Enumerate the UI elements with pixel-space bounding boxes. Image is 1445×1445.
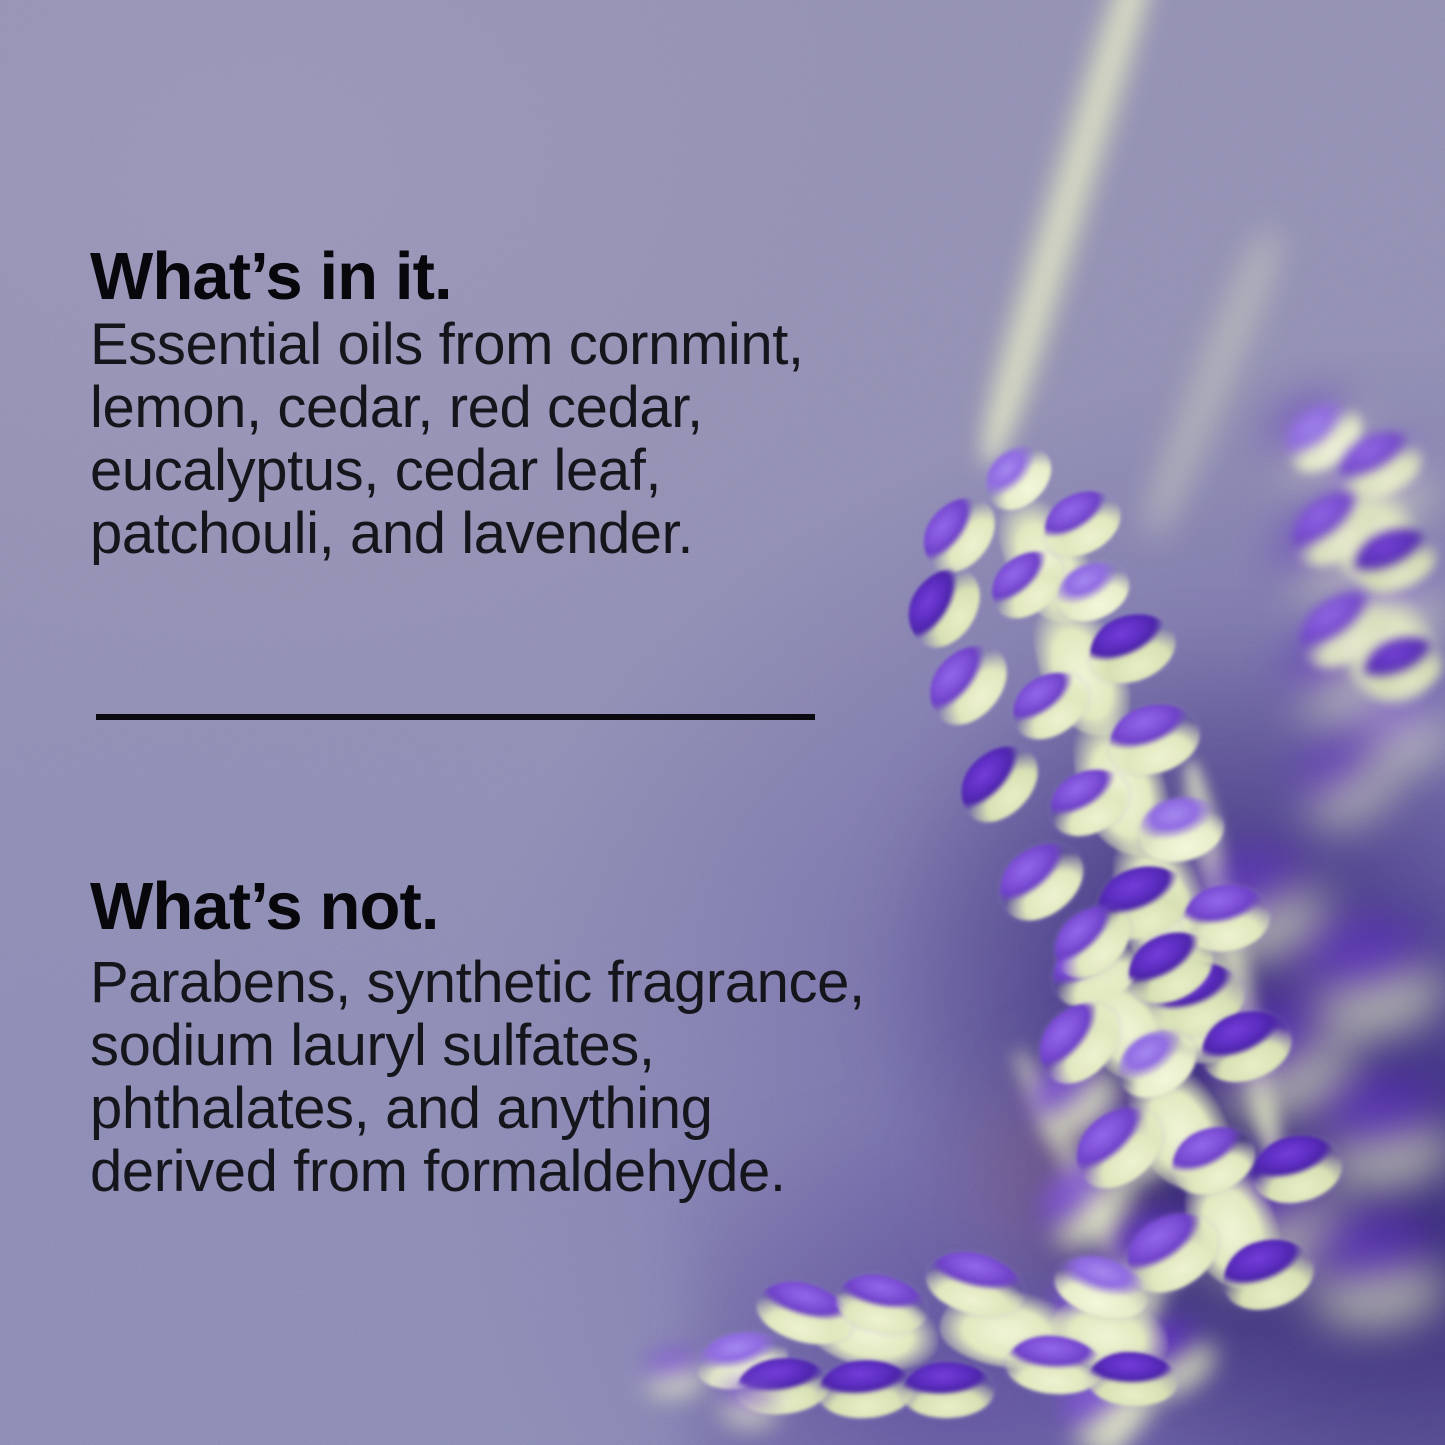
ingredients-excluded-text: Parabens, synthetic fragrance, sodium la… xyxy=(90,951,865,1203)
section-divider xyxy=(96,714,815,720)
product-ingredients-panel: What’s in it. Essential oils from cornmi… xyxy=(0,0,1445,1445)
heading-whats-not: What’s not. xyxy=(90,873,439,940)
text-content-layer: What’s in it. Essential oils from cornmi… xyxy=(0,0,1445,1445)
heading-whats-in-it: What’s in it. xyxy=(90,243,452,310)
ingredients-included-text: Essential oils from cornmint, lemon, ced… xyxy=(90,313,804,565)
